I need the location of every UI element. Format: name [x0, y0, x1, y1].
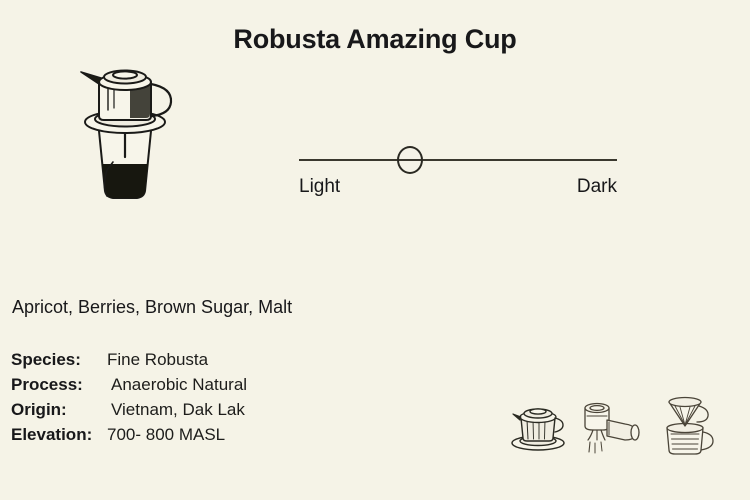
- roast-level-slider[interactable]: [299, 146, 617, 176]
- phin-coffee-illustration: [68, 58, 180, 210]
- coffee-bag-label: Robusta Amazing Cup: [0, 0, 750, 500]
- spec-row-species: Species: Fine Robusta: [11, 347, 247, 372]
- spec-row-elevation: Elevation: 700- 800 MASL: [11, 422, 247, 447]
- coffee-spec-list: Species: Fine Robusta Process: Anaerobic…: [11, 347, 247, 447]
- spec-label-origin: Origin:: [11, 397, 107, 422]
- spec-label-process: Process:: [11, 372, 107, 397]
- roast-slider-labels: Light Dark: [299, 176, 617, 198]
- espresso-portafilter-icon: [579, 396, 645, 458]
- spec-value-elevation: 700- 800 MASL: [107, 422, 225, 447]
- spec-value-species: Fine Robusta: [107, 347, 208, 372]
- spec-row-process: Process: Anaerobic Natural: [11, 372, 247, 397]
- phin-filter-icon: [505, 396, 571, 458]
- spec-value-origin: Vietnam, Dak Lak: [107, 397, 245, 422]
- roast-slider-knob[interactable]: [397, 146, 423, 174]
- spec-value-process: Anaerobic Natural: [107, 372, 247, 397]
- pour-over-dripper-icon: [653, 396, 719, 458]
- flavour-notes: Apricot, Berries, Brown Sugar, Malt: [12, 297, 292, 318]
- page-title: Robusta Amazing Cup: [0, 24, 750, 55]
- roast-label-dark: Dark: [577, 176, 617, 198]
- brew-method-icons: [505, 392, 720, 458]
- roast-slider-track[interactable]: [299, 159, 617, 161]
- spec-row-origin: Origin: Vietnam, Dak Lak: [11, 397, 247, 422]
- roast-label-light: Light: [299, 176, 340, 198]
- spec-label-elevation: Elevation:: [11, 422, 107, 447]
- spec-label-species: Species:: [11, 347, 107, 372]
